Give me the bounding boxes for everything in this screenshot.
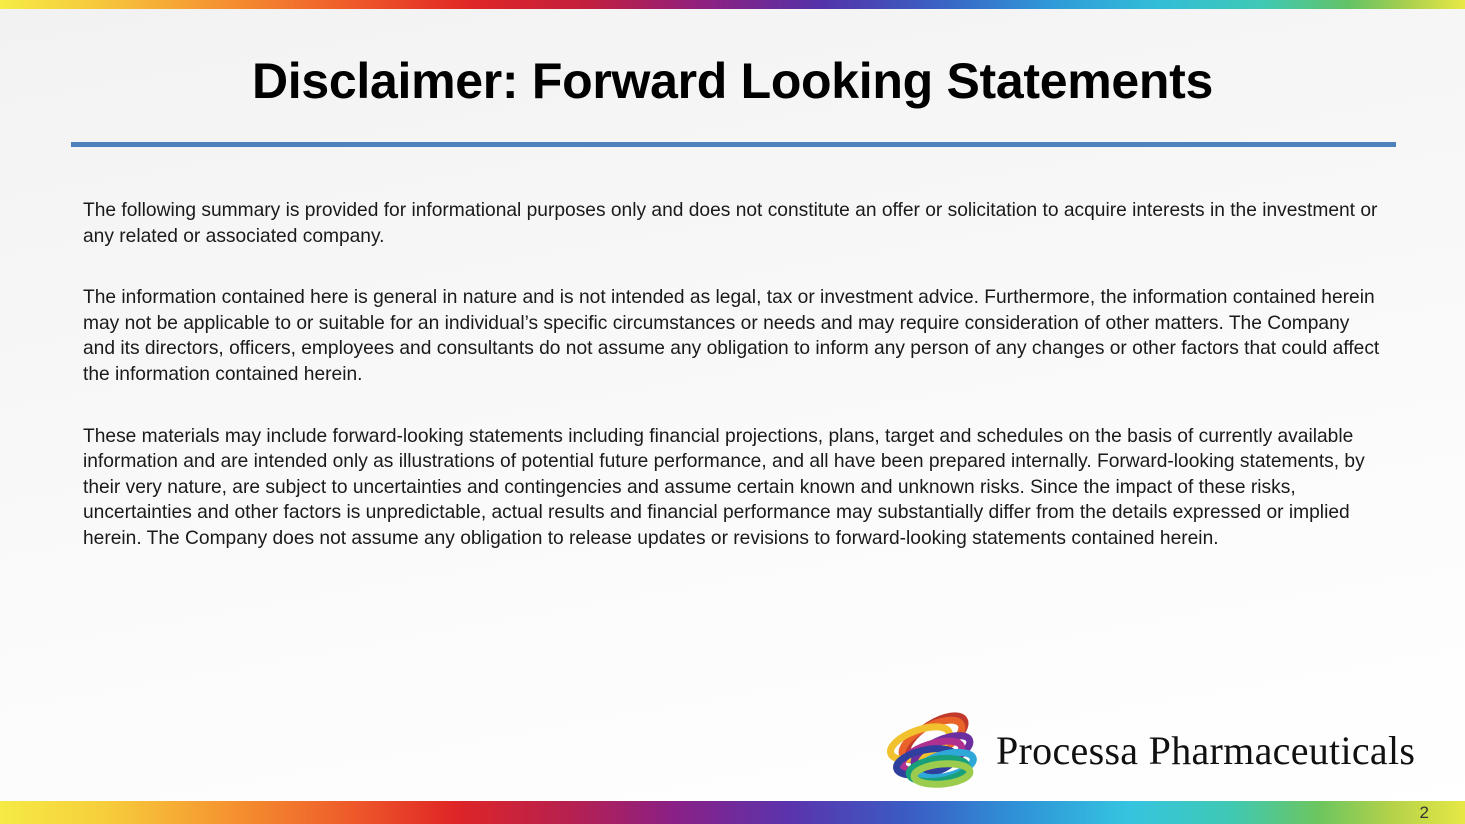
disclaimer-paragraph-2: The information contained here is genera… <box>83 285 1385 387</box>
page-title: Disclaimer: Forward Looking Statements <box>0 52 1465 110</box>
disclaimer-paragraph-1: The following summary is provided for in… <box>83 198 1385 249</box>
bottom-rainbow-bar <box>0 801 1465 824</box>
slide: Disclaimer: Forward Looking Statements T… <box>0 0 1465 824</box>
page-number: 2 <box>1420 803 1429 823</box>
company-name: Processa Pharmaceuticals <box>996 727 1415 774</box>
disclaimer-paragraph-3: These materials may include forward-look… <box>83 424 1385 552</box>
disclaimer-body: The following summary is provided for in… <box>83 198 1385 577</box>
company-logo: Processa Pharmaceuticals <box>880 708 1440 792</box>
title-divider <box>71 142 1396 147</box>
top-rainbow-bar <box>0 0 1465 9</box>
processa-rings-logo-icon <box>880 710 988 790</box>
